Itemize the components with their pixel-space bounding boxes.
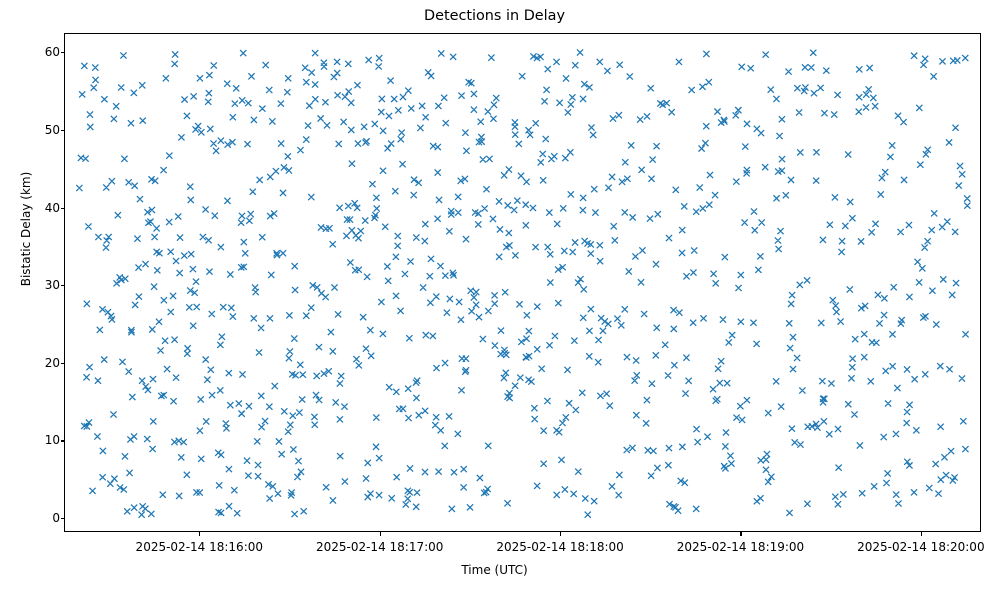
scatter-markers <box>76 49 970 517</box>
y-axis-tick-labels: 0102030405060 <box>8 0 60 590</box>
x-tick-mark <box>380 532 381 536</box>
scatter-series <box>65 34 980 531</box>
y-tick-mark <box>61 52 65 53</box>
y-tick-mark <box>61 130 65 131</box>
x-tick-mark <box>740 532 741 536</box>
y-tick-mark <box>61 518 65 519</box>
x-tick-mark <box>560 532 561 536</box>
page-title: Detections in Delay <box>0 8 989 24</box>
x-tick-label: 2025-02-14 18:19:00 <box>677 540 804 554</box>
y-tick-label: 40 <box>12 201 60 215</box>
y-tick-label: 10 <box>12 433 60 447</box>
y-tick-label: 20 <box>12 356 60 370</box>
y-tick-mark <box>61 440 65 441</box>
x-tick-label: 2025-02-14 18:16:00 <box>136 540 263 554</box>
y-tick-label: 0 <box>12 511 60 525</box>
matplotlib-figure: Detections in Delay Bistatic Delay (km) … <box>0 0 989 590</box>
y-tick-mark <box>61 363 65 364</box>
y-tick-mark <box>61 208 65 209</box>
x-tick-mark <box>921 532 922 536</box>
y-tick-label: 60 <box>12 45 60 59</box>
y-tick-label: 30 <box>12 278 60 292</box>
y-tick-label: 50 <box>12 123 60 137</box>
y-tick-mark <box>61 285 65 286</box>
x-tick-label: 2025-02-14 18:18:00 <box>496 540 623 554</box>
plot-area <box>64 33 981 532</box>
x-axis-label: Time (UTC) <box>0 563 989 577</box>
x-tick-mark <box>199 532 200 536</box>
x-tick-label: 2025-02-14 18:17:00 <box>316 540 443 554</box>
x-tick-label: 2025-02-14 18:20:00 <box>857 540 984 554</box>
